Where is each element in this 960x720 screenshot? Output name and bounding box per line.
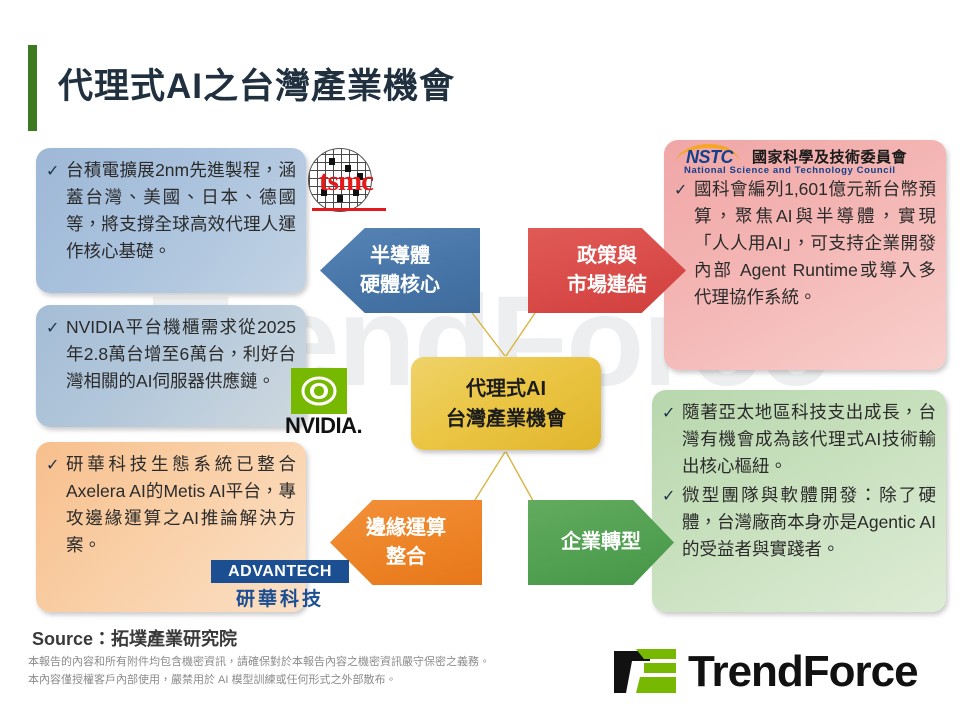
bullet-text: 微型團隊與軟體開發：除了硬體，台灣廠商本身亦是Agentic AI的受益者與實踐… <box>682 482 936 563</box>
check-icon: ✓ <box>46 451 66 478</box>
nstc-logo: NSTC 國家科學及技術委員會 National Science and Tec… <box>676 143 938 176</box>
trendforce-logo: TrendForce <box>610 645 940 703</box>
tsmc-wordmark: tsmc <box>300 165 392 198</box>
arrow-label-line1: 企業轉型 <box>561 528 641 557</box>
bullet-item: ✓ 隨著亞太地區科技支出成長，台灣有機會成為該代理式AI技術輸出核心樞紐。 <box>662 399 936 480</box>
title-accent-bar <box>28 45 37 131</box>
nvidia-eye-icon <box>291 368 347 414</box>
bullet-item: ✓ 研華科技生態系統已整合Axelera AI的Metis AI平台，專攻邊緣運… <box>46 451 296 559</box>
arrow-label-line1: 邊緣運算 <box>366 514 446 543</box>
bullet-text: 台積電擴展2nm先進製程，涵蓋台灣、美國、日本、德國等，將支撐全球高效代理人運作… <box>66 157 296 265</box>
trendforce-mark-icon <box>610 645 680 697</box>
check-icon: ✓ <box>662 399 682 426</box>
bullet-text: 研華科技生態系統已整合Axelera AI的Metis AI平台，專攻邊緣運算之… <box>66 451 296 559</box>
bullet-text: 隨著亞太地區科技支出成長，台灣有機會成為該代理式AI技術輸出核心樞紐。 <box>682 399 936 480</box>
disclaimer-text: 本報告的內容和所有附件均包含機密資訊，請確保對於本報告內容之機密資訊嚴守保密之義… <box>28 653 490 689</box>
bullet-item: ✓ NVIDIA平台機櫃需求從2025年2.8萬台增至6萬台，利好台灣相關的AI… <box>46 314 296 395</box>
check-icon: ✓ <box>674 176 694 203</box>
advantech-wordmark: ADVANTECH <box>211 560 349 583</box>
nstc-name-en: National Science and Technology Council <box>684 165 896 176</box>
check-icon: ✓ <box>662 482 682 509</box>
bullet-item: ✓ 台積電擴展2nm先進製程，涵蓋台灣、美國、日本、德國等，將支撐全球高效代理人… <box>46 157 296 265</box>
callout-nvidia: ✓ NVIDIA平台機櫃需求從2025年2.8萬台增至6萬台，利好台灣相關的AI… <box>36 305 306 427</box>
trendforce-wordmark: TrendForce <box>688 647 918 697</box>
page-title: 代理式AI之台灣產業機會 <box>58 58 455 109</box>
bullet-item: ✓ 微型團隊與軟體開發：除了硬體，台灣廠商本身亦是Agentic AI的受益者與… <box>662 482 936 563</box>
slide-canvas: TrendForce 代理式AI之台灣產業機會 ✓ 台積電擴展2nm先進製程，涵… <box>0 0 960 720</box>
center-hub[interactable]: 代理式AI 台灣產業機會 <box>411 357 601 450</box>
callout-enterprise: ✓ 隨著亞太地區科技支出成長，台灣有機會成為該代理式AI技術輸出核心樞紐。 ✓ … <box>652 390 946 612</box>
bullet-text: NVIDIA平台機櫃需求從2025年2.8萬台增至6萬台，利好台灣相關的AI伺服… <box>66 314 296 395</box>
source-label: Source：拓墣產業研究院 <box>32 625 237 651</box>
arrow-label-line2: 市場連結 <box>567 271 647 300</box>
advantech-wordmark-cn: 研華科技 <box>211 584 349 611</box>
disclaimer-line-1: 本報告的內容和所有附件均包含機密資訊，請確保對於本報告內容之機密資訊嚴守保密之義… <box>28 653 490 671</box>
arrow-label-line2: 整合 <box>366 543 446 572</box>
bullet-text: 國科會編列1,601億元新台幣預算，聚焦AI與半導體，實現「人人用AI」，可支持… <box>694 176 936 311</box>
arrow-label-line2: 硬體核心 <box>360 271 440 300</box>
advantech-logo: ADVANTECH 研華科技 <box>211 560 349 610</box>
nvidia-wordmark: NVIDIA. <box>285 413 403 439</box>
disclaimer-line-2: 本內容僅授權客戶內部使用，嚴禁用於 AI 模型訓練或任何形式之外部散布。 <box>28 671 490 689</box>
tsmc-logo: tsmc <box>300 148 392 226</box>
check-icon: ✓ <box>46 157 66 184</box>
tsmc-underline <box>312 208 386 211</box>
check-icon: ✓ <box>46 314 66 341</box>
arrow-label-line1: 半導體 <box>360 242 440 271</box>
callout-tsmc: ✓ 台積電擴展2nm先進製程，涵蓋台灣、美國、日本、德國等，將支撐全球高效代理人… <box>36 148 306 293</box>
hub-line2: 台灣產業機會 <box>446 404 566 434</box>
nstc-name-cn: 國家科學及技術委員會 <box>752 146 907 167</box>
nvidia-logo: NVIDIA. <box>285 368 403 430</box>
hub-line1: 代理式AI <box>466 374 546 404</box>
bullet-item: ✓ 國科會編列1,601億元新台幣預算，聚焦AI與半導體，實現「人人用AI」，可… <box>674 176 936 311</box>
arrow-label-line1: 政策與 <box>567 242 647 271</box>
